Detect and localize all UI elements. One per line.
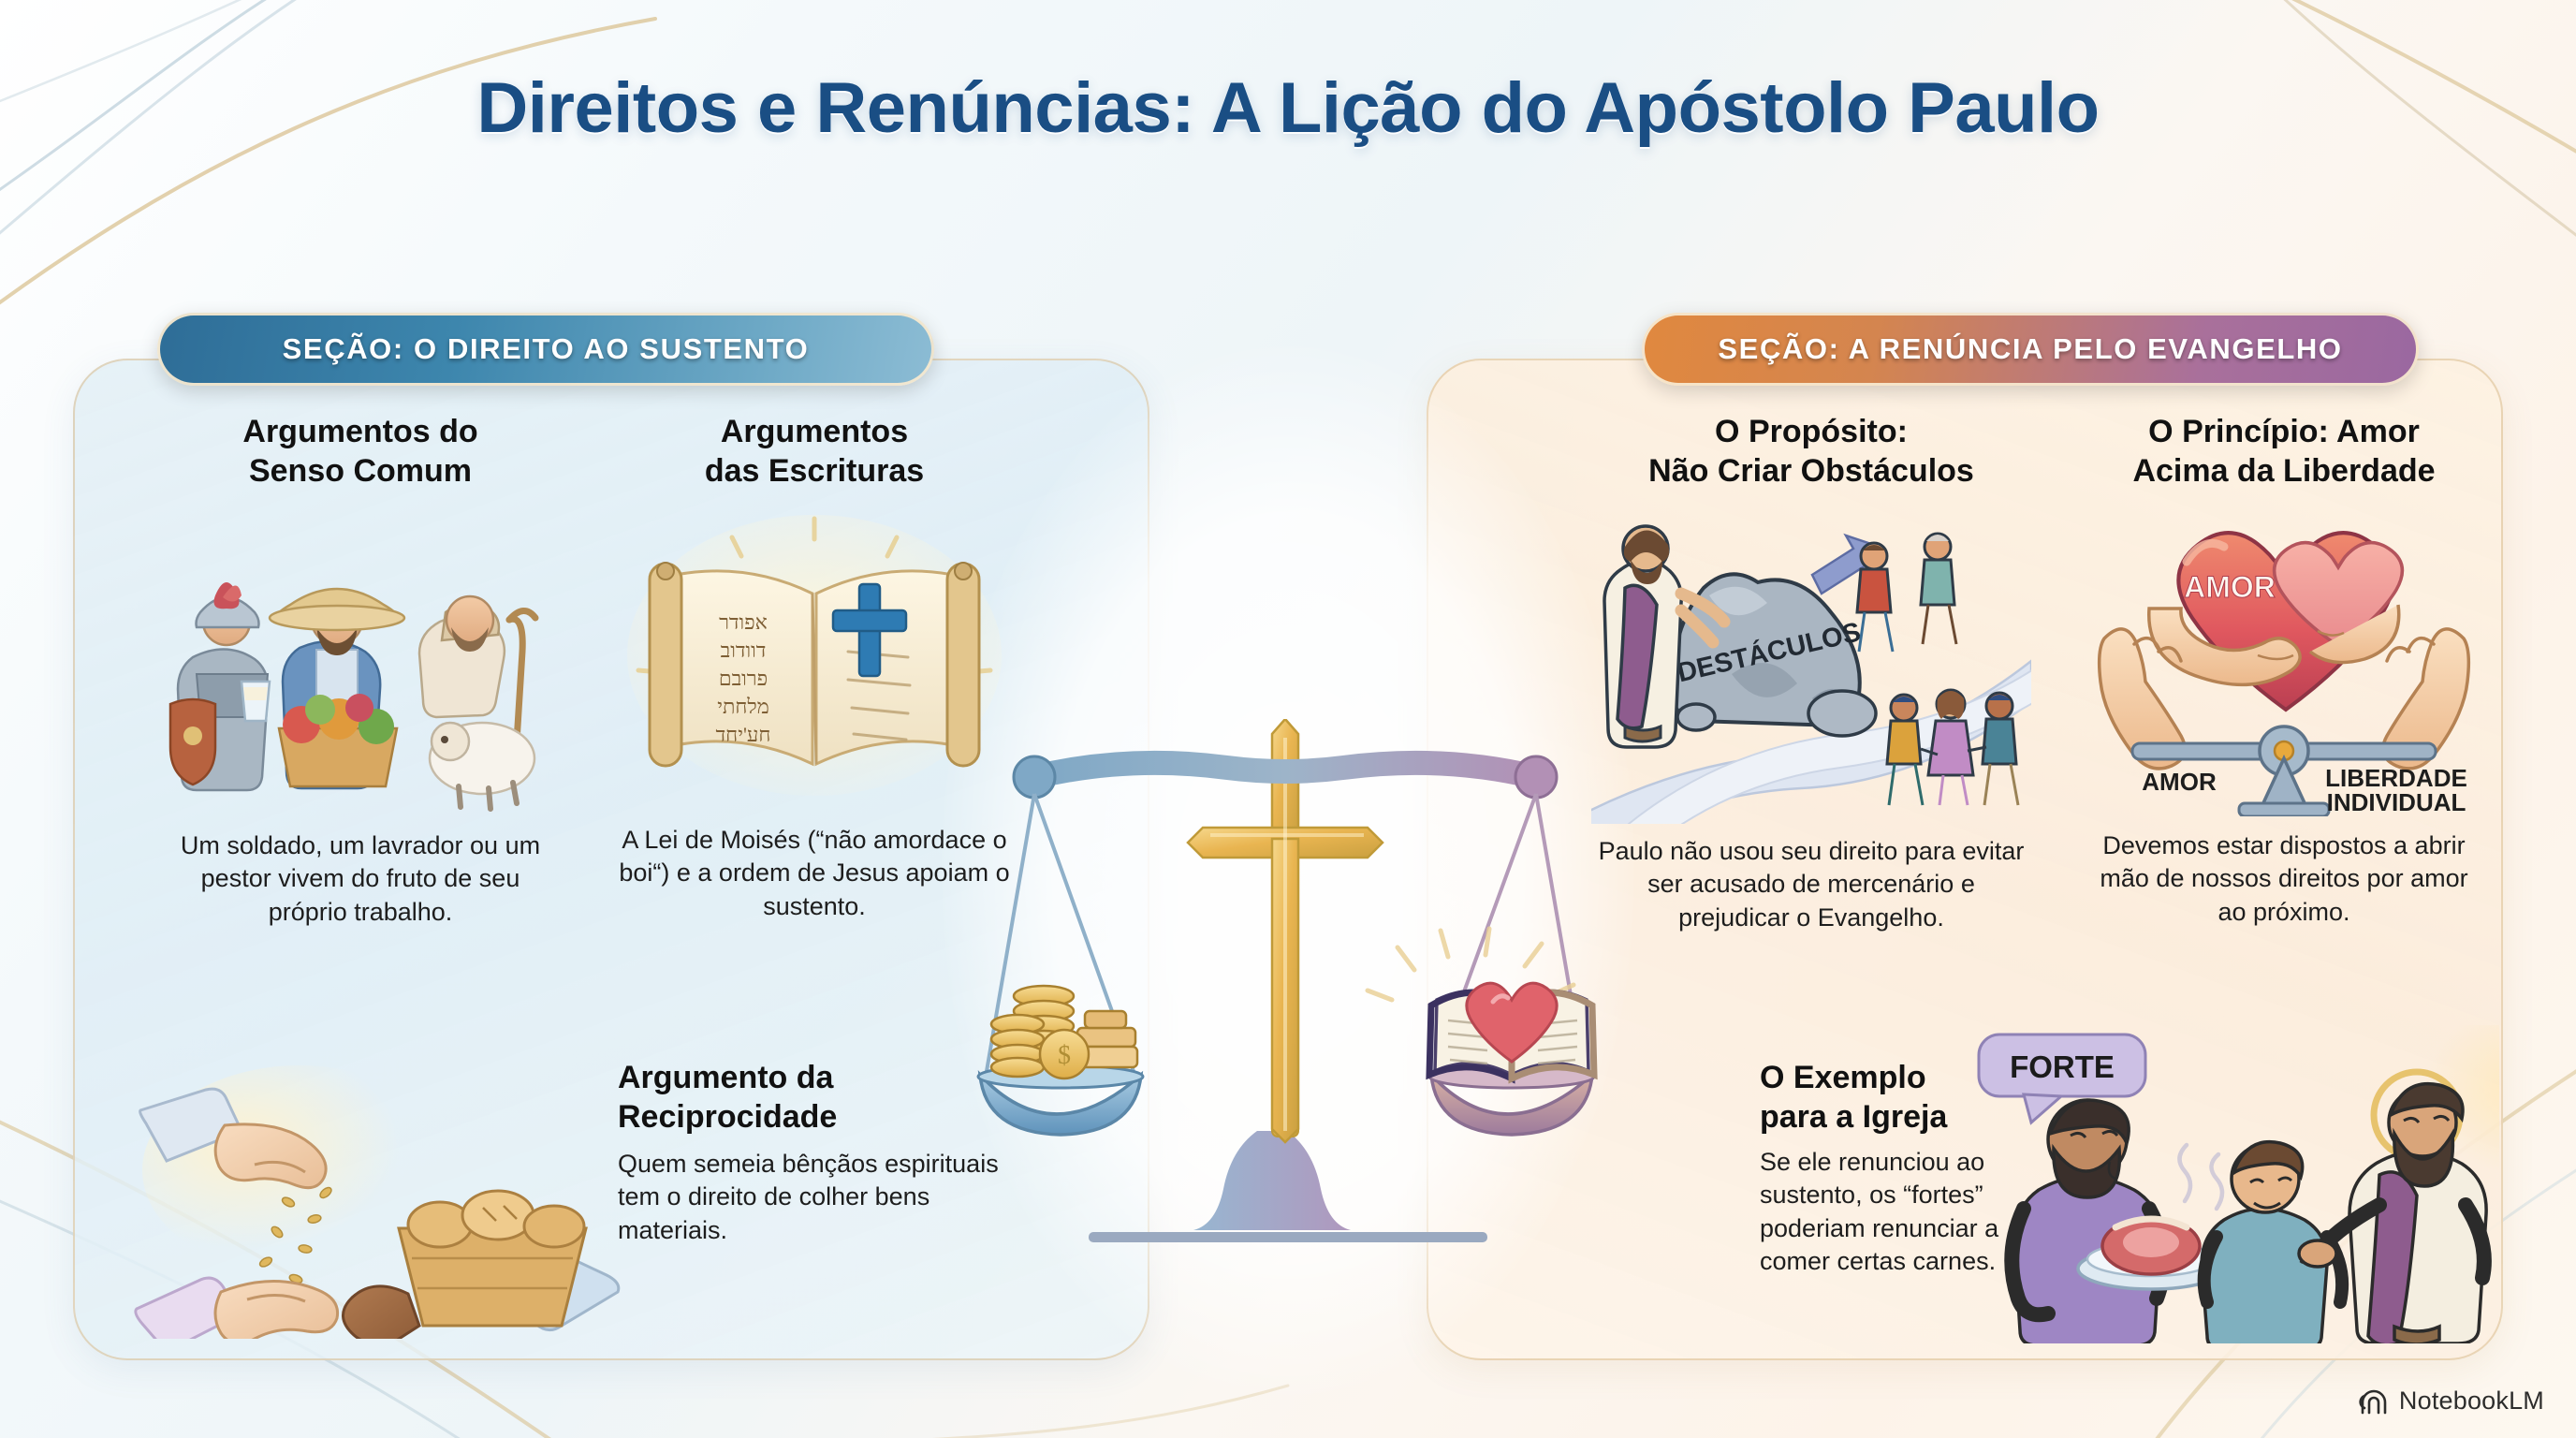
- soldier-farmer-shepherd-illustration: [159, 507, 562, 816]
- hands-holding-heart-seesaw-illustration: AMOR AMOR LIBERDADE INDIVIDUAL: [2087, 507, 2481, 816]
- card-senso-comum-heading: Argumentos do Senso Comum: [159, 412, 562, 491]
- notebooklm-logo-icon: [2359, 1387, 2389, 1416]
- balance-scales-with-cross: $: [976, 719, 1600, 1262]
- card-principio-body: Devemos estar dispostos a abrir mão de n…: [2087, 829, 2481, 928]
- infographic-canvas: Direitos e Renúncias: A Lição do Apóstol…: [0, 0, 2576, 1438]
- speech-bubble-label: FORTE: [2010, 1049, 2115, 1084]
- card-senso-comum: Argumentos do Senso Comum: [159, 412, 562, 929]
- open-scroll-with-cross-illustration: אפודר דוודוב פרובם מלחתי חע'יחד: [618, 515, 1011, 811]
- svg-text:מלחתי: מלחתי: [717, 695, 769, 718]
- notebooklm-label: NotebookLM: [2399, 1387, 2544, 1416]
- card-escrituras-heading: Argumentos das Escrituras: [618, 412, 1011, 491]
- section-header-left: SEÇÃO: O DIREITO AO SUSTENTO: [157, 313, 934, 386]
- heart-label: AMOR: [2184, 570, 2276, 604]
- seesaw-label-right-2: INDIVIDUAL: [2327, 788, 2466, 816]
- section-header-right: SEÇÃO: A RENÚNCIA PELO EVANGELHO: [1642, 313, 2419, 386]
- card-principio: O Princípio: Amor Acima da Liberdade: [2087, 412, 2481, 929]
- card-reciprocidade: Argumento da Reciprocidade Quem semeia b…: [618, 1058, 1002, 1247]
- page-title: Direitos e Renúncias: A Lição do Apóstol…: [0, 67, 2576, 149]
- card-senso-comum-body: Um soldado, um lavrador ou um pestor viv…: [159, 829, 562, 928]
- svg-text:פרובם: פרובם: [719, 667, 768, 690]
- card-escrituras: Argumentos das Escrituras: [618, 412, 1011, 923]
- card-escrituras-body: A Lei de Moisés (“não amordace o boi“) e…: [618, 824, 1011, 922]
- card-proposito-heading: O Propósito: Não Criar Obstáculos: [1591, 412, 2031, 491]
- card-proposito: O Propósito: Não Criar Obstáculos DESTÁC…: [1591, 412, 2031, 934]
- card-reciprocidade-heading: Argumento da Reciprocidade: [618, 1058, 1002, 1137]
- jesus-rock-obstacle-path-illustration: DESTÁCULOS: [1591, 506, 2031, 824]
- card-proposito-body: Paulo não usou seu direito para evitar s…: [1591, 835, 2031, 933]
- card-principio-heading: O Princípio: Amor Acima da Liberdade: [2087, 412, 2481, 491]
- notebooklm-watermark: NotebookLM: [2359, 1387, 2544, 1416]
- card-reciprocidade-body: Quem semeia bênçãos espirituais tem o di…: [618, 1148, 1002, 1246]
- svg-text:חע'יחד: חע'יחד: [716, 723, 771, 746]
- seesaw-label-left: AMOR: [2142, 768, 2217, 796]
- section-header-right-label: SEÇÃO: A RENÚNCIA PELO EVANGELHO: [1718, 332, 2342, 366]
- svg-text:$: $: [1058, 1041, 1071, 1070]
- sowing-hand-and-bread-basket-illustration: [131, 1058, 627, 1339]
- strong-believer-meat-paul-illustration: FORTE: [1956, 1025, 2499, 1343]
- section-header-left-label: SEÇÃO: O DIREITO AO SUSTENTO: [283, 332, 810, 366]
- svg-text:דוודוב: דוודוב: [721, 638, 767, 662]
- svg-text:אפודר: אפודר: [719, 610, 768, 634]
